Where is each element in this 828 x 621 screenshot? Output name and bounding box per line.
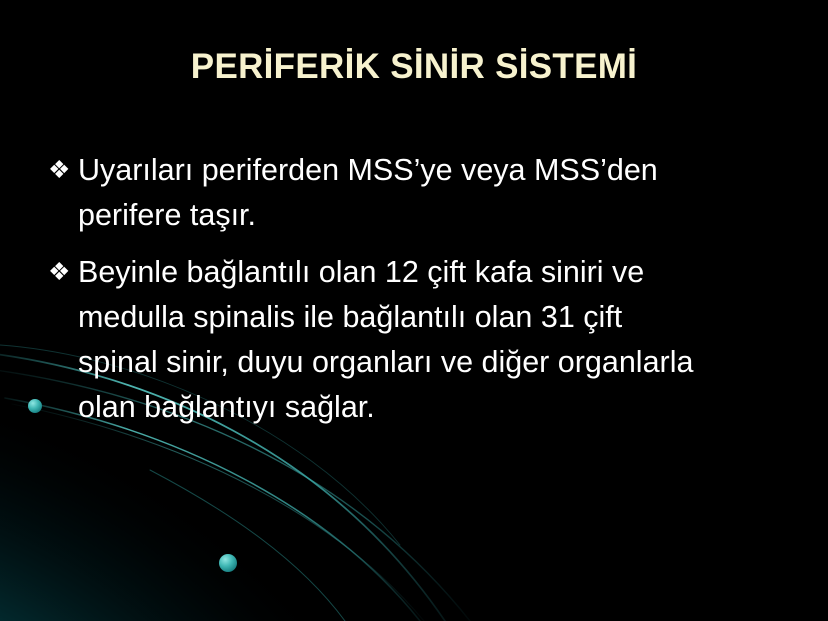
bullet-2-line-1: Beyinle bağlantılı olan 12 çift kafa sin… [78,250,788,295]
bullet-item-2: ❖ Beyinle bağlantılı olan 12 çift kafa s… [48,250,788,430]
slide-title: PERİFERİK SİNİR SİSTEMİ [0,48,828,87]
accent-dot-lower [219,554,237,572]
bullet-item-2-text: Beyinle bağlantılı olan 12 çift kafa sin… [78,250,788,430]
diamond-bullet-icon: ❖ [48,148,78,193]
bullet-item-1-text: Uyarıları periferden MSS’ye veya MSS’den… [78,148,788,238]
bullet-1-line-1: Uyarıları periferden MSS’ye veya MSS’den [78,148,788,193]
bullet-2-line-4: olan bağlantıyı sağlar. [78,385,788,430]
bullet-2-line-3: spinal sinir, duyu organları ve diğer or… [78,340,788,385]
accent-dot-upper [28,399,42,413]
diamond-bullet-icon: ❖ [48,250,78,295]
bullet-1-line-2: perifere taşır. [78,193,788,238]
bullet-item-1: ❖ Uyarıları periferden MSS’ye veya MSS’d… [48,148,788,238]
slide-body: ❖ Uyarıları periferden MSS’ye veya MSS’d… [48,148,788,436]
bullet-2-line-2: medulla spinalis ile bağlantılı olan 31 … [78,295,788,340]
slide-canvas: PERİFERİK SİNİR SİSTEMİ ❖ Uyarıları peri… [0,0,828,621]
